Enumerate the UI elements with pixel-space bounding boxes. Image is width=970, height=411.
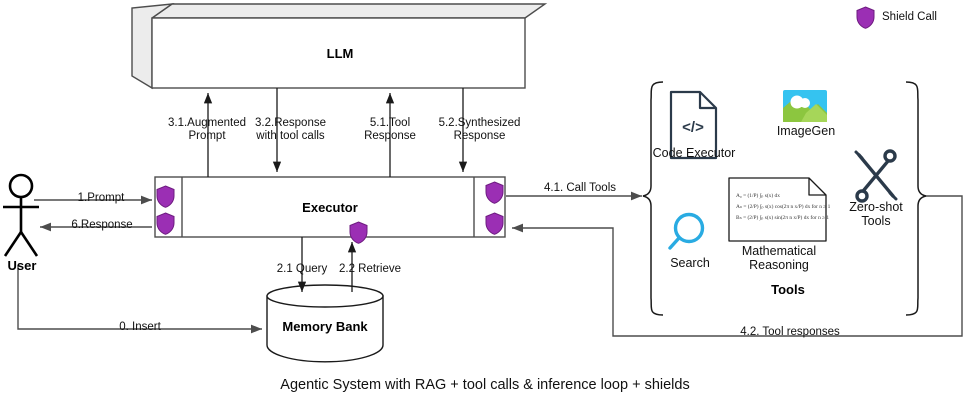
shield-icon (349, 221, 368, 244)
diagram-caption: Agentic System with RAG + tool calls & i… (185, 377, 785, 393)
legend-label: Shield Call (882, 11, 937, 23)
magnifier-icon (670, 215, 703, 249)
image-icon (783, 90, 827, 122)
edge-label-response: 6.Response (52, 219, 152, 232)
edge-label-synthesized-response: 5.2.Synthesized Response (422, 117, 537, 143)
shield-icon (485, 181, 504, 204)
executor-label: Executor (240, 200, 420, 215)
edge-label-retrieve: 2.2 Retrieve (327, 263, 413, 276)
svg-text:Aₙ = (2/P) ∫ₚ s(x) cos(2π n x/: Aₙ = (2/P) ∫ₚ s(x) cos(2π n x/P) dx for … (736, 203, 831, 210)
memory-bank-label: Memory Bank (265, 319, 385, 334)
tool-label-code-executor: Code Executor (646, 146, 742, 160)
legend-shield-icon (856, 6, 875, 29)
formula-document-icon: A₀ = (1/P) ∫ₚ s(x) dx Aₙ = (2/P) ∫ₚ s(x)… (729, 178, 831, 241)
edge-label-tool-responses: 4.2. Tool responses (670, 326, 910, 339)
edge-label-insert: 0. Insert (95, 321, 185, 334)
edge-label-call-tools: 4.1. Call Tools (525, 182, 635, 195)
svg-text:A₀ = (1/P) ∫ₚ s(x) dx: A₀ = (1/P) ∫ₚ s(x) dx (736, 192, 780, 199)
edge-insert (18, 265, 262, 329)
tool-label-mathematical-reasoning: Mathematical Reasoning (731, 244, 827, 272)
edge-label-prompt: 1.Prompt (56, 192, 146, 205)
svg-text:</>: </> (682, 119, 704, 136)
user-label: User (0, 258, 44, 273)
user-actor-shape (3, 175, 39, 256)
crossed-wrench-icon (856, 151, 896, 201)
shield-icon (485, 212, 504, 235)
shield-icon (156, 212, 175, 235)
tools-group-label: Tools (728, 282, 848, 297)
tools-right-brace (906, 82, 926, 315)
edge-label-response-tool-calls: 3.2.Response with tool calls (233, 117, 348, 143)
shield-icon (156, 185, 175, 208)
tool-label-imagegen: ImageGen (763, 124, 849, 138)
tools-left-brace (643, 82, 663, 315)
tool-label-search: Search (654, 256, 726, 270)
llm-label: LLM (250, 46, 430, 61)
svg-text:Bₙ = (2/P) ∫ₚ s(x) sin(2π n x/: Bₙ = (2/P) ∫ₚ s(x) sin(2π n x/P) dx for … (736, 214, 829, 221)
tool-label-zero-shot-tools: Zero-shot Tools (838, 200, 914, 228)
connector-layer: </> A₀ = (1/P) ∫ₚ s(x) dx Aₙ = (2/P) ∫ₚ … (0, 0, 970, 411)
diagram-canvas: </> A₀ = (1/P) ∫ₚ s(x) dx Aₙ = (2/P) ∫ₚ … (0, 0, 970, 411)
